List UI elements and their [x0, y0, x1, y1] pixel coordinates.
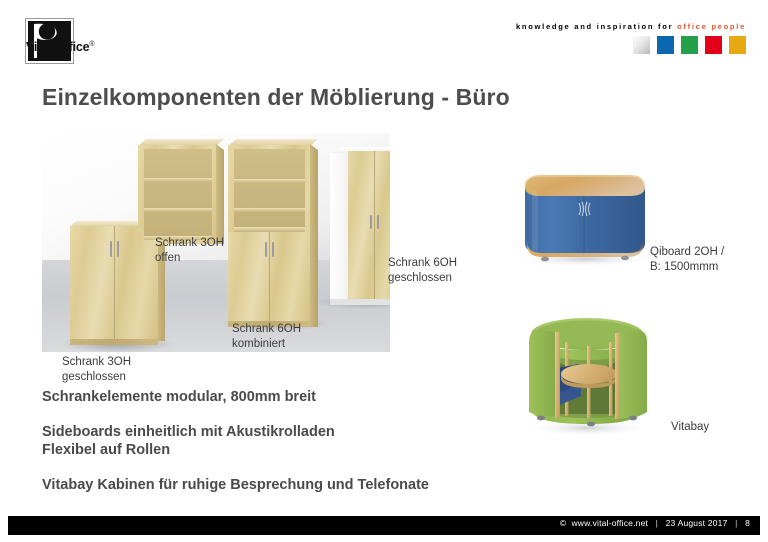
- label-schrank-6oh-kombiniert: Schrank 6OH kombiniert: [232, 322, 301, 351]
- swatch-silver: [633, 36, 650, 54]
- footer-page-number: 8: [745, 518, 750, 528]
- swatch-green: [681, 36, 698, 54]
- brand-color-swatches: [633, 36, 746, 54]
- tagline-main: knowledge and inspiration for: [516, 22, 673, 31]
- swatch-blue: [657, 36, 674, 54]
- swatch-gold: [729, 36, 746, 54]
- bullet-vitabay-kabinen: Vitabay Kabinen für ruhige Besprechung u…: [42, 476, 562, 494]
- footer-date: 23 August 2017: [666, 518, 728, 528]
- label-vitabay: Vitabay: [671, 420, 709, 435]
- label-schrank-3oh-offen: Schrank 3OH offen: [155, 236, 224, 265]
- logo-wordmark: Vital-Office®: [26, 40, 94, 54]
- label-schrank-6oh-geschlossen: Schrank 6OH geschlossen: [388, 256, 457, 285]
- label-schrank-3oh-geschlossen: Schrank 3OH geschlossen: [62, 355, 131, 384]
- swatch-red: [705, 36, 722, 54]
- bullet-schrankelemente: Schrankelemente modular, 800mm breit: [42, 388, 562, 406]
- footer-separator-2: |: [730, 518, 742, 528]
- cabinet-3oh-open: [138, 139, 224, 244]
- slide-canvas: Vital-Office® knowledge and inspiration …: [0, 0, 768, 542]
- footer-bar: © www.vital-office.net | 23 August 2017 …: [8, 516, 760, 535]
- key-points-list: Schrankelemente modular, 800mm breit Sid…: [42, 388, 562, 511]
- brand-tagline: knowledge and inspiration for office peo…: [516, 22, 746, 31]
- footer-meta: © www.vital-office.net | 23 August 2017 …: [560, 518, 750, 528]
- footer-copyright: ©: [560, 518, 566, 528]
- label-qiboard: Qiboard 2OH / B: 1500mmm: [650, 245, 724, 274]
- footer-separator-1: |: [651, 518, 663, 528]
- bullet-sideboards: Sideboards einheitlich mit Akustikrollad…: [42, 423, 562, 459]
- footer-website: www.vital-office.net: [571, 518, 648, 528]
- cabinet-6oh-closed: [330, 147, 390, 305]
- page-title: Einzelkomponenten der Möblierung - Büro: [42, 84, 510, 111]
- cabinet-6oh-combined: [228, 139, 318, 327]
- tagline-accent: office people: [677, 22, 746, 31]
